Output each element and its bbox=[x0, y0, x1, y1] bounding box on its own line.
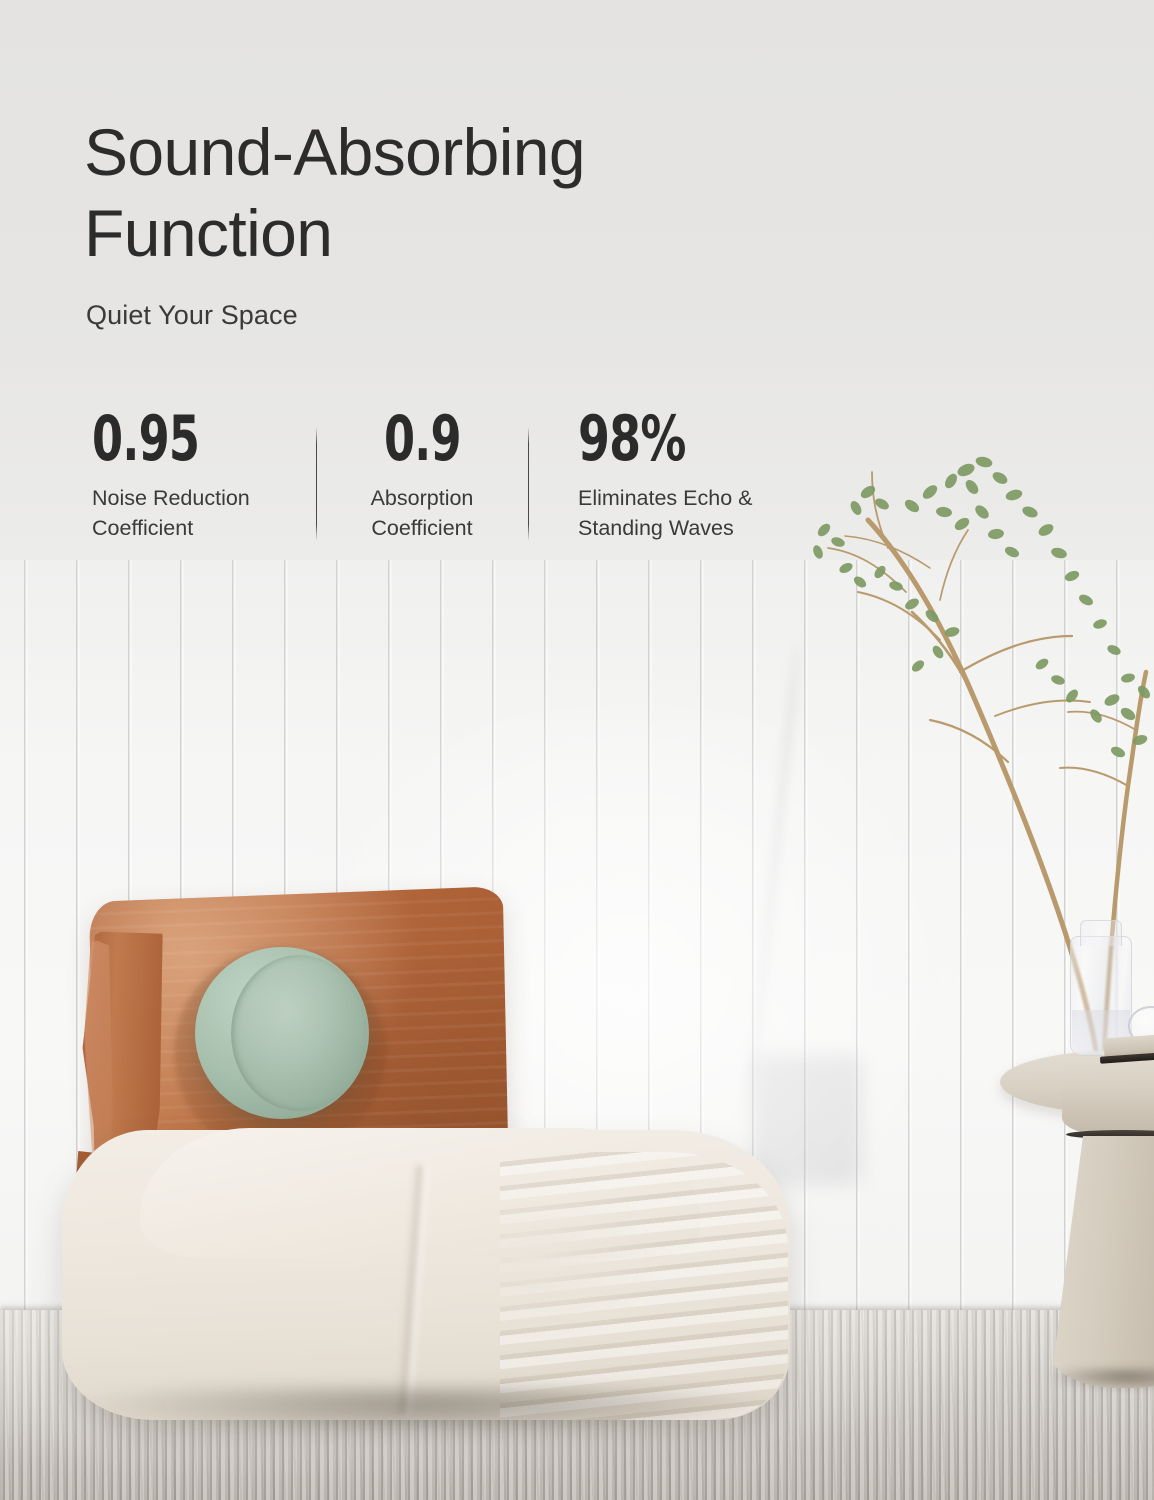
stat-eliminates-echo: 98% Eliminates Echo & Standing Waves bbox=[528, 408, 808, 543]
stat-value: 0.9 bbox=[384, 408, 461, 470]
sound-absorbing-feature-panel: Sound-Absorbing Function Quiet Your Spac… bbox=[0, 0, 1154, 1500]
chair-seat-rib-texture bbox=[500, 1152, 788, 1420]
stat-value: 98% bbox=[578, 408, 748, 470]
chair-floor-shadow bbox=[76, 1386, 776, 1434]
stat-label: Absorption Coefficient bbox=[371, 484, 474, 543]
stat-absorption-coefficient: 0.9 Absorption Coefficient bbox=[316, 408, 528, 543]
stats-row: 0.95 Noise Reduction Coefficient 0.9 Abs… bbox=[84, 408, 824, 543]
round-cushion-seam bbox=[231, 955, 367, 1111]
stat-label: Eliminates Echo & Standing Waves bbox=[578, 484, 808, 543]
stat-label: Noise Reduction Coefficient bbox=[92, 484, 316, 543]
stat-value: 0.95 bbox=[92, 408, 253, 470]
page-title: Sound-Absorbing Function bbox=[84, 112, 804, 273]
stat-noise-reduction-coefficient: 0.95 Noise Reduction Coefficient bbox=[84, 408, 316, 543]
page-subtitle: Quiet Your Space bbox=[86, 300, 298, 331]
